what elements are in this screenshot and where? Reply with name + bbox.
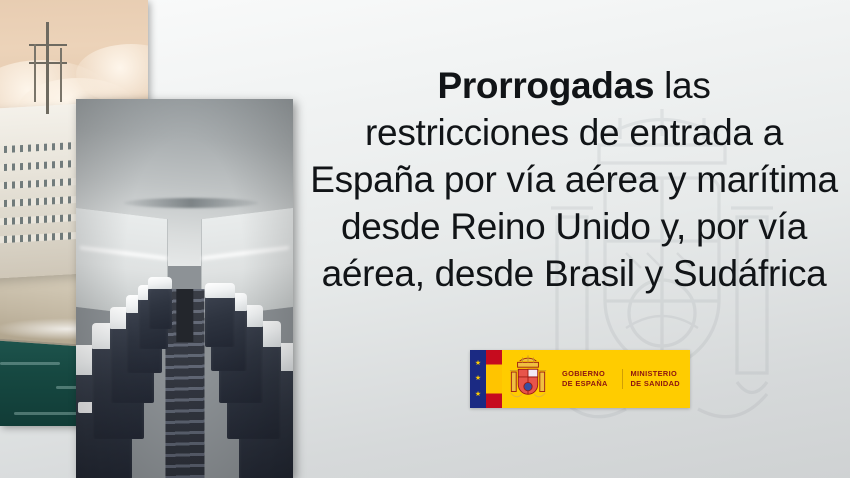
gobierno-de-espana-label: GOBIERNO DE ESPAÑA <box>554 369 622 389</box>
ship-mast <box>60 48 62 102</box>
headline-line-1-rest: las <box>654 65 710 106</box>
eu-star-icon: ★ <box>475 360 481 367</box>
headline-line-5: aérea, desde Brasil y Sudáfrica <box>300 250 848 297</box>
headline-text: Prorrogadas las restricciones de entrada… <box>300 62 848 297</box>
european-union-bar-icon: ★ ★ ★ <box>470 350 486 408</box>
photo-vignette <box>76 99 293 478</box>
spain-flag-icon <box>486 350 502 408</box>
headline-line-1: Prorrogadas las <box>300 62 848 109</box>
eu-star-icon: ★ <box>475 391 481 398</box>
ship-mast <box>46 22 49 114</box>
ship-mast <box>34 44 36 102</box>
gobierno-de-espana-ministerio-de-sanidad-logo: ★ ★ ★ <box>470 350 690 408</box>
headline-line-2: restricciones de entrada a <box>300 109 848 156</box>
eu-star-icon: ★ <box>475 375 481 382</box>
ministerio-de-sanidad-label: MINISTERIO DE SANIDAD <box>622 369 691 389</box>
slide-canvas: Prorrogadas las restricciones de entrada… <box>0 0 850 478</box>
headline-line-4: desde Reino Unido y, por vía <box>300 203 848 250</box>
ministerio-line-1: MINISTERIO <box>631 369 683 379</box>
ministerio-line-2: DE SANIDAD <box>631 379 683 389</box>
headline-lead-bold: Prorrogadas <box>437 65 654 106</box>
logo-text-block: GOBIERNO DE ESPAÑA MINISTERIO DE SANIDAD <box>554 350 690 408</box>
headline-line-3: España por vía aérea y marítima <box>300 156 848 203</box>
spain-coat-of-arms-icon <box>502 350 554 408</box>
gobierno-line-2: DE ESPAÑA <box>562 379 614 389</box>
gobierno-line-1: GOBIERNO <box>562 369 614 379</box>
airplane-cabin-photo <box>76 99 293 478</box>
